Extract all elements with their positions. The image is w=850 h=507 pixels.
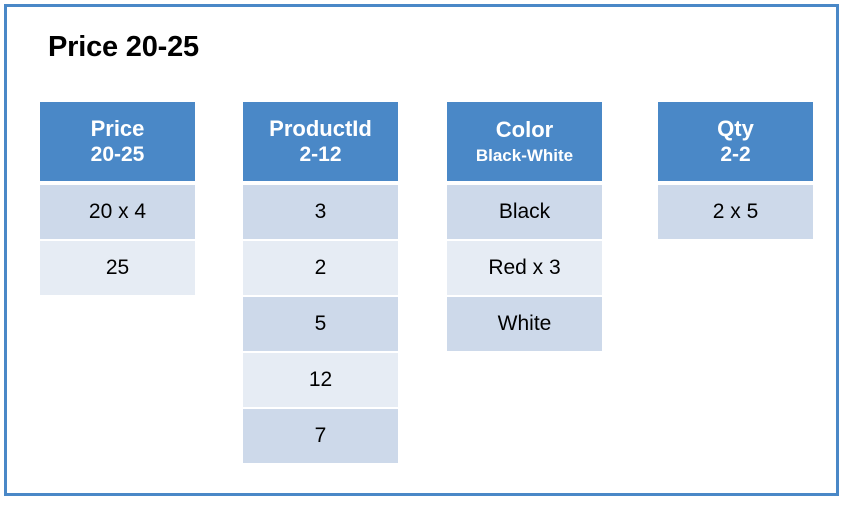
table-cell[interactable]: 5 (243, 297, 398, 351)
table-cell[interactable]: 20 x 4 (40, 185, 195, 239)
column-cells: 325127 (243, 185, 398, 463)
table-cell[interactable]: 25 (40, 241, 195, 295)
table-cell[interactable]: 3 (243, 185, 398, 239)
table-column: ProductId2-12325127 (243, 102, 398, 465)
table-column: Qty2-22 x 5 (658, 102, 813, 241)
table-cell[interactable]: White (447, 297, 602, 351)
table-cell[interactable]: 12 (243, 353, 398, 407)
table-cell[interactable]: 2 (243, 241, 398, 295)
page-title: Price 20-25 (48, 31, 199, 64)
column-cells: 20 x 425 (40, 185, 195, 295)
table-cell[interactable]: 2 x 5 (658, 185, 813, 239)
column-header-title: Color (496, 118, 553, 143)
table-cell[interactable]: 7 (243, 409, 398, 463)
column-header-subtitle: 2-12 (299, 143, 341, 167)
table-column: Price20-2520 x 425 (40, 102, 195, 297)
column-header[interactable]: Price20-25 (40, 102, 195, 181)
column-header-subtitle: Black-White (476, 146, 573, 165)
table-cell[interactable]: Red x 3 (447, 241, 602, 295)
slide-frame: Price 20-25 Price20-2520 x 425ProductId2… (4, 4, 839, 496)
column-header[interactable]: ColorBlack-White (447, 102, 602, 181)
column-cells: BlackRed x 3White (447, 185, 602, 351)
columns-area: Price20-2520 x 425ProductId2-12325127Col… (7, 102, 850, 482)
table-column: ColorBlack-WhiteBlackRed x 3White (447, 102, 602, 353)
column-header-title: ProductId (269, 117, 372, 142)
column-header-title: Price (91, 117, 145, 142)
column-header[interactable]: Qty2-2 (658, 102, 813, 181)
column-header-subtitle: 2-2 (720, 143, 750, 167)
column-cells: 2 x 5 (658, 185, 813, 239)
column-header-subtitle: 20-25 (91, 143, 145, 167)
column-header[interactable]: ProductId2-12 (243, 102, 398, 181)
column-header-title: Qty (717, 117, 754, 142)
table-cell[interactable]: Black (447, 185, 602, 239)
